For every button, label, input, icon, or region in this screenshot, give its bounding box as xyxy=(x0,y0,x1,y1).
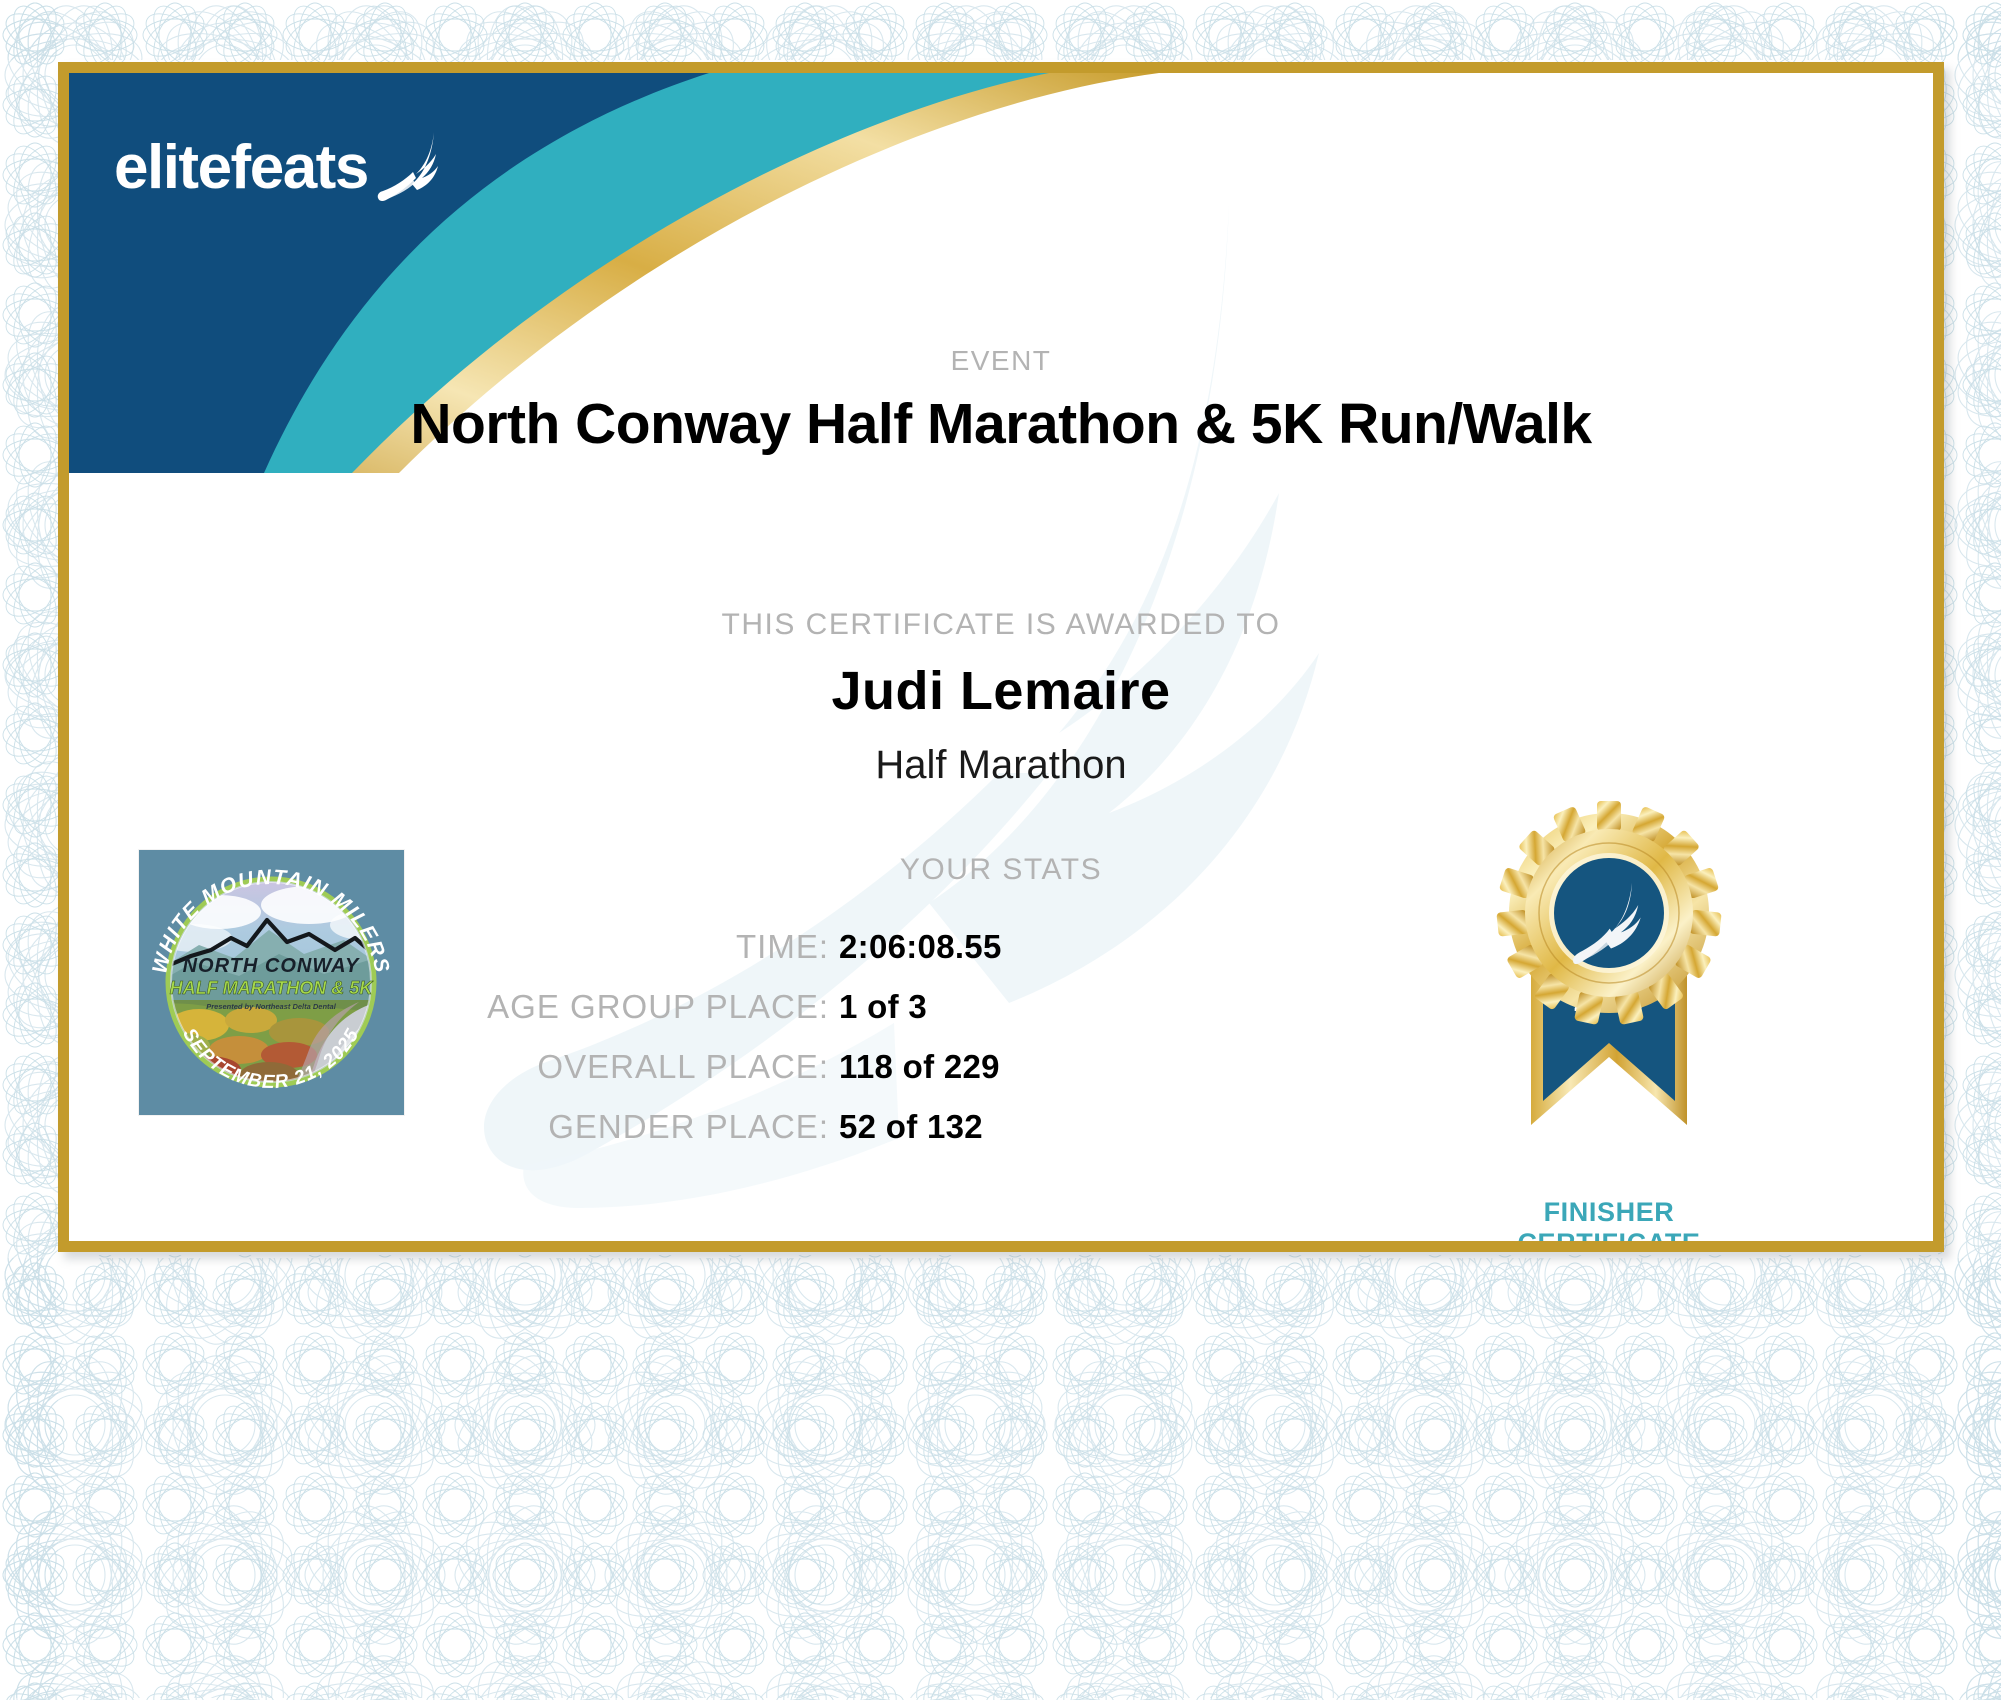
finisher-caption: FINISHER CERTIFICATE xyxy=(1469,1197,1749,1241)
event-label: EVENT xyxy=(69,345,1933,377)
race-logo-title-line1: NORTH CONWAY xyxy=(183,955,360,977)
race-logo-presented-by: Presented by Northeast Delta Dental xyxy=(206,1002,337,1011)
medal-disc xyxy=(1496,801,1721,1025)
recipient-name: Judi Lemaire xyxy=(69,660,1933,722)
medal-graphic: 2025 xyxy=(1489,795,1729,1195)
finisher-medal: 2025 xyxy=(1469,795,1749,1241)
stat-value: 1 of 3 xyxy=(839,988,927,1026)
race-logo-title-line2: HALF MARATHON & 5K xyxy=(170,978,375,998)
stat-value: 2:06:08.55 xyxy=(839,928,1002,966)
recipient-division: Half Marathon xyxy=(69,743,1933,788)
finisher-caption-line2: CERTIFICATE xyxy=(1469,1228,1749,1241)
stat-value: 52 of 132 xyxy=(839,1108,983,1146)
certificate-page: elitefeats EVENT xyxy=(0,0,2001,1700)
certificate-frame: elitefeats EVENT xyxy=(58,62,1944,1252)
stat-value: 118 of 229 xyxy=(839,1048,1000,1086)
awarded-to-label: THIS CERTIFICATE IS AWARDED TO xyxy=(69,608,1933,642)
certificate-body: elitefeats EVENT xyxy=(69,73,1933,1241)
event-title: North Conway Half Marathon & 5K Run/Walk xyxy=(69,391,1933,457)
race-event-logo: NORTH CONWAY HALF MARATHON & 5K Presente… xyxy=(139,850,404,1115)
finisher-caption-line1: FINISHER xyxy=(1469,1197,1749,1228)
